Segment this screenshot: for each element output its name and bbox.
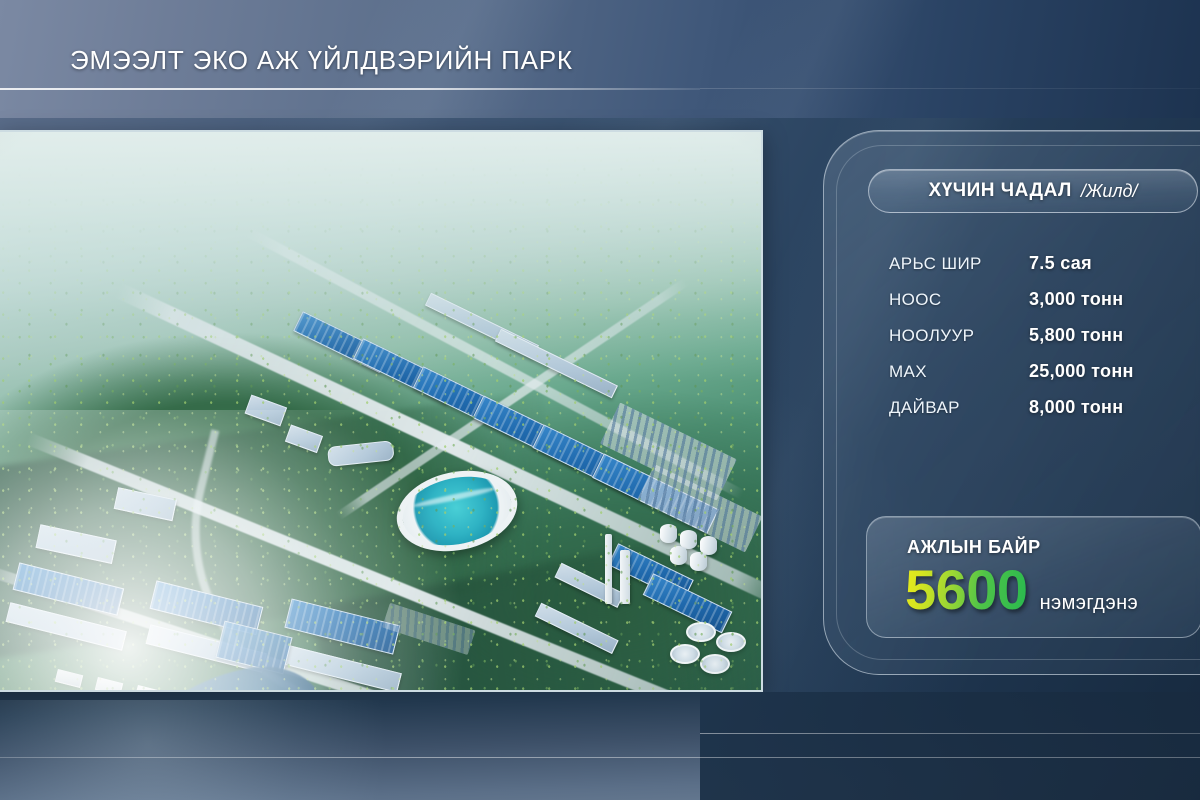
stat-row: АРЬС ШИР 7.5 сая bbox=[889, 253, 1199, 289]
capacity-header-pill: ХҮЧИН ЧАДАЛ /Жилд/ bbox=[868, 169, 1198, 213]
jobs-number: 5600 bbox=[905, 562, 1028, 618]
aerial-render-panel bbox=[0, 130, 763, 692]
header-divider-line-fade bbox=[700, 88, 1200, 89]
stat-value: 8,000 тонн bbox=[1029, 397, 1123, 418]
stat-value: 25,000 тонн bbox=[1029, 361, 1134, 382]
aerial-render-image bbox=[0, 132, 761, 690]
footer-glow bbox=[0, 700, 460, 800]
capacity-title: ХҮЧИН ЧАДАЛ bbox=[929, 180, 1072, 202]
render-vignette bbox=[0, 132, 761, 690]
stat-value: 5,800 тонн bbox=[1029, 325, 1123, 346]
stat-value: 7.5 сая bbox=[1029, 253, 1092, 274]
header-divider-line bbox=[0, 88, 700, 90]
jobs-title: АЖЛЫН БАЙР bbox=[907, 537, 1041, 558]
stat-value: 3,000 тонн bbox=[1029, 289, 1123, 310]
capacity-glass-card: ХҮЧИН ЧАДАЛ /Жилд/ АРЬС ШИР 7.5 сая НООС… bbox=[823, 130, 1200, 675]
capacity-stats-list: АРЬС ШИР 7.5 сая НООС 3,000 тонн НООЛУУР… bbox=[889, 253, 1199, 433]
footer-divider-upper bbox=[700, 733, 1200, 734]
stat-label: НООС bbox=[889, 290, 1029, 310]
stat-label: АРЬС ШИР bbox=[889, 254, 1029, 274]
page-title: ЭМЭЭЛТ ЭКО АЖ ҮЙЛДВЭРИЙН ПАРК bbox=[70, 45, 573, 76]
footer-band-right bbox=[700, 692, 1200, 800]
stat-label: ДАЙВАР bbox=[889, 398, 1029, 418]
capacity-period: /Жилд/ bbox=[1081, 181, 1138, 202]
jobs-suffix: нэмэгдэнэ bbox=[1040, 592, 1139, 615]
slide-root: ЭМЭЭЛТ ЭКО АЖ ҮЙЛДВЭРИЙН ПАРК bbox=[0, 0, 1200, 800]
jobs-value-line: 5600 нэмэгдэнэ bbox=[905, 562, 1138, 618]
jobs-highlight-box: АЖЛЫН БАЙР 5600 нэмэгдэнэ bbox=[866, 516, 1200, 638]
stat-row: МАХ 25,000 тонн bbox=[889, 361, 1199, 397]
footer-divider-lower bbox=[0, 757, 1200, 758]
stat-label: МАХ bbox=[889, 362, 1029, 382]
stat-row: ДАЙВАР 8,000 тонн bbox=[889, 397, 1199, 433]
stat-label: НООЛУУР bbox=[889, 326, 1029, 346]
stat-row: НООС 3,000 тонн bbox=[889, 289, 1199, 325]
stat-row: НООЛУУР 5,800 тонн bbox=[889, 325, 1199, 361]
